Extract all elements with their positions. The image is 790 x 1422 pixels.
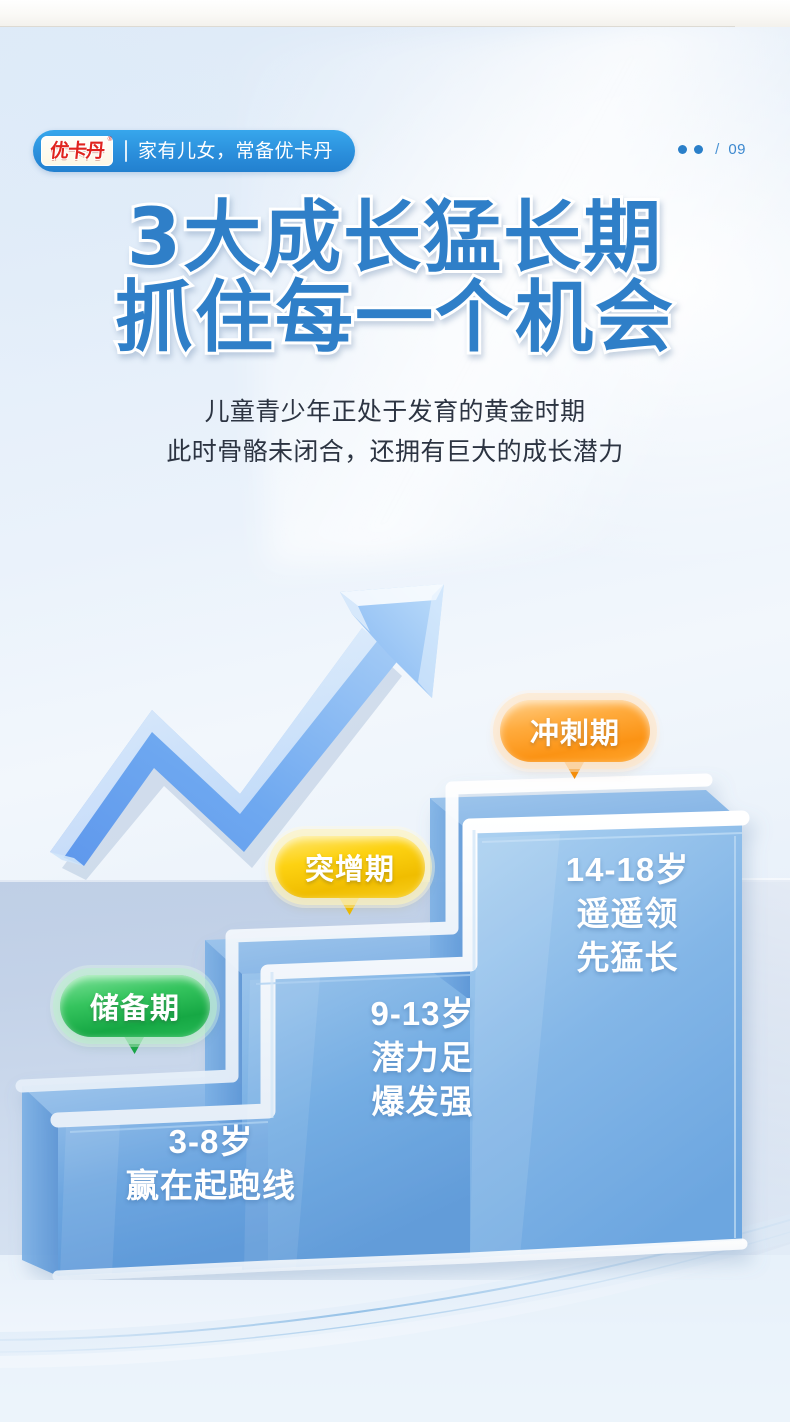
subtitle-line-1: 儿童青少年正处于发育的黄金时期 — [0, 392, 790, 432]
stage-3-age: 14-18岁 — [535, 848, 720, 892]
top-strip — [0, 0, 790, 27]
subtitle-line-2: 此时骨骼未闭合，还拥有巨大的成长潜力 — [0, 432, 790, 472]
stage-3-badge-label: 冲刺期 — [500, 700, 650, 762]
stage-3-line-1: 遥遥领 — [535, 892, 720, 936]
pager-dot-2[interactable] — [694, 145, 703, 154]
headline-line-2: 抓住每一个机会 — [0, 276, 790, 360]
promo-page: 优卡丹 ® 家有儿女，常备优卡丹 / 09 3大成长猛长期 抓住每一个机会 儿童… — [0, 0, 790, 1422]
headline-line-1: 3大成长猛长期 — [0, 196, 790, 280]
stage-1-text: 3-8岁 赢在起跑线 — [86, 1120, 336, 1208]
stage-2-badge-label: 突增期 — [275, 836, 425, 898]
stage-1-badge-label: 储备期 — [60, 975, 210, 1037]
stage-3-badge[interactable]: 冲刺期 — [500, 700, 650, 776]
pager-dot-1[interactable] — [678, 145, 687, 154]
stage-2-badge[interactable]: 突增期 — [275, 836, 425, 912]
registered-mark-icon: ® — [108, 137, 112, 143]
stage-2-text: 9-13岁 潜力足 爆发强 — [330, 992, 515, 1124]
stage-3-line-2: 先猛长 — [535, 936, 720, 980]
brand-logo-text: 优卡丹 — [49, 142, 105, 161]
stage-2-line-2: 爆发强 — [330, 1080, 515, 1124]
page-title: 3大成长猛长期 抓住每一个机会 — [0, 196, 790, 360]
pager[interactable]: / 09 — [678, 141, 746, 158]
stage-3-text: 14-18岁 遥遥领 先猛长 — [535, 848, 720, 980]
brand-divider — [125, 140, 127, 162]
pager-page-number: 09 — [728, 141, 746, 158]
page-subtitle: 儿童青少年正处于发育的黄金时期 此时骨骼未闭合，还拥有巨大的成长潜力 — [0, 392, 790, 472]
stage-1-age: 3-8岁 — [86, 1120, 336, 1164]
stage-2-line-1: 潜力足 — [330, 1036, 515, 1080]
brand-logo[interactable]: 优卡丹 ® — [41, 136, 113, 166]
stage-2-age: 9-13岁 — [330, 992, 515, 1036]
brand-bar[interactable]: 优卡丹 ® 家有儿女，常备优卡丹 — [33, 130, 355, 172]
stage-1-line-1: 赢在起跑线 — [86, 1164, 336, 1208]
brand-slogan: 家有儿女，常备优卡丹 — [138, 142, 333, 161]
pager-separator: / — [715, 141, 719, 158]
stage-1-badge[interactable]: 储备期 — [60, 975, 210, 1051]
